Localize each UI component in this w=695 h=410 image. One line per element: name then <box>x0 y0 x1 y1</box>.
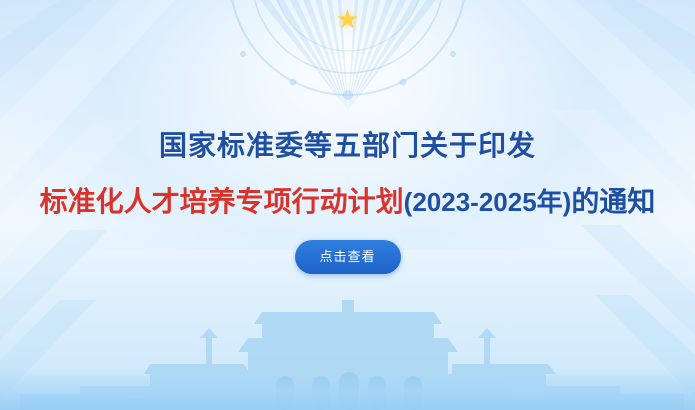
banner-title-tail: 的通知 <box>571 186 655 217</box>
banner-title-line-2: 标准化人才培养专项行动计划(2023-2025年)的通知 <box>0 180 695 220</box>
banner-content: 国家标准委等五部门关于印发 标准化人才培养专项行动计划(2023-2025年)的… <box>0 0 695 410</box>
notice-banner: ★ <box>0 0 695 410</box>
banner-title-line-1: 国家标准委等五部门关于印发 <box>0 124 695 164</box>
view-detail-button[interactable]: 点击查看 <box>295 240 401 274</box>
banner-title-highlight: 标准化人才培养专项行动计划 <box>40 186 404 217</box>
banner-title-years: (2023-2025年) <box>404 187 572 217</box>
